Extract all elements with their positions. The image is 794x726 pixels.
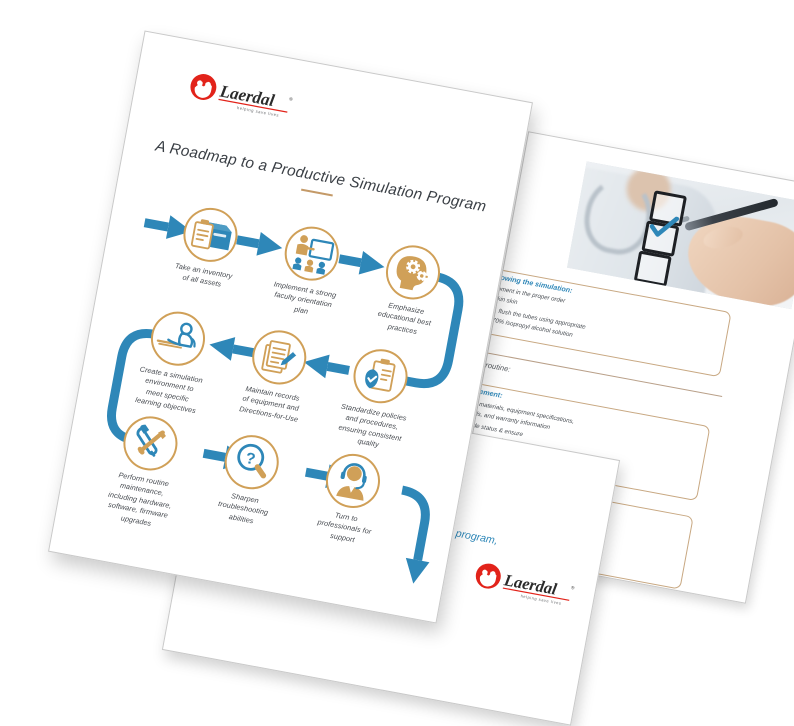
roadmap-step-6: Standardize policiesand procedures,ensur… — [316, 340, 437, 458]
laerdal-emblem-icon — [474, 562, 503, 591]
roadmap-step-5: Maintain recordsof equipment andDirectio… — [217, 321, 336, 429]
laerdal-logo-footer: Laerdal ® helping save lives — [468, 558, 581, 613]
roadmap-step-8: ? Sharpentroubleshootingabilities — [189, 426, 308, 534]
roadmap-step-4: Create a simulationenvironment tomeet sp… — [113, 303, 234, 421]
support-agent-headset-icon — [322, 449, 385, 512]
roadmap-step-9: Turn toprofessionals forsupport — [290, 445, 409, 553]
roadmap-step-7: Perform routinemaintenance,including har… — [84, 407, 207, 535]
records-pencil-icon — [248, 326, 311, 389]
roadmap-step-2: Implement a strongfaculty orientationpla… — [249, 218, 368, 326]
head-gears-icon — [382, 241, 445, 304]
magnifier-question-icon: ? — [220, 431, 283, 494]
inventory-box-clipboard-icon — [179, 203, 242, 266]
clinician-checking-checkbox-photo — [567, 161, 794, 309]
simulation-patient-icon — [147, 307, 210, 370]
arrowhead-exit — [401, 558, 429, 586]
checkbox-empty-bottom — [634, 250, 672, 286]
roadmap-step-3: Emphasizeeducational bestpractices — [350, 236, 469, 344]
wrench-screwdriver-icon — [119, 412, 182, 475]
faculty-presentation-icon — [280, 222, 343, 285]
svg-text:Laerdal: Laerdal — [502, 570, 559, 599]
svg-text:®: ® — [571, 584, 576, 591]
shield-clipboard-icon — [349, 345, 412, 408]
screenshot-canvas: y following the simulation: equipment in… — [0, 0, 794, 677]
